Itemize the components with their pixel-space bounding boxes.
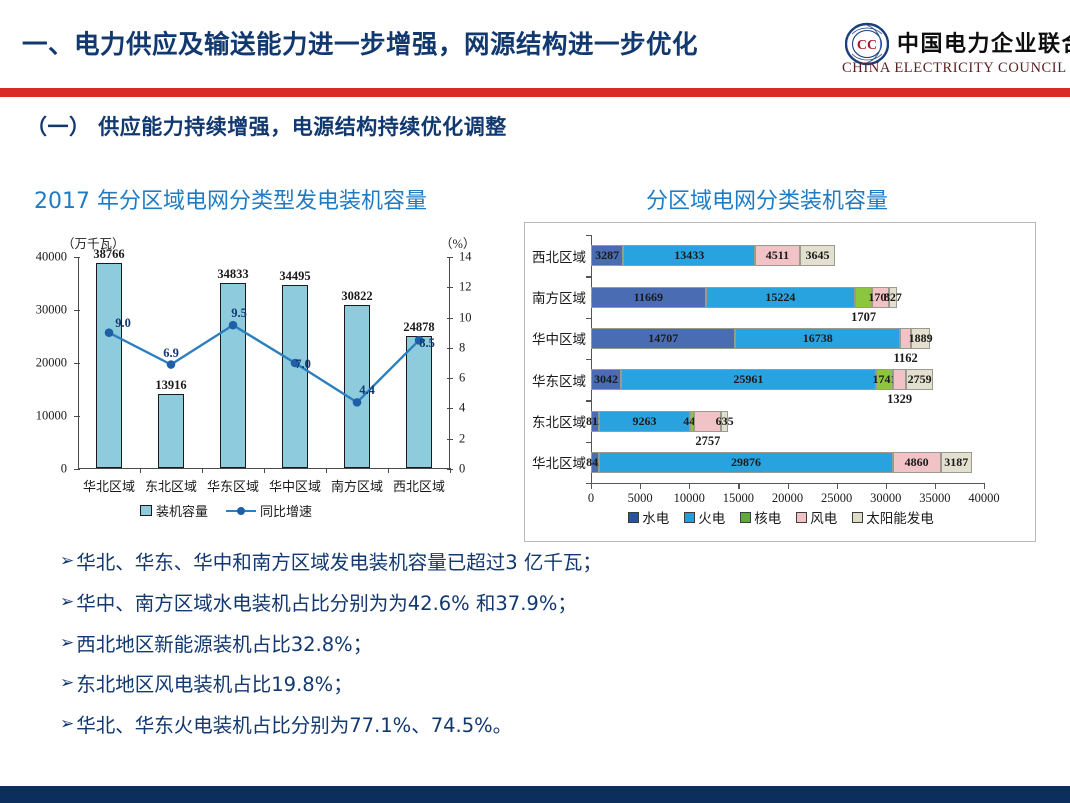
segment-value-label: 1707 (851, 310, 876, 325)
y-tick (586, 483, 592, 484)
segment-value-label: 2757 (695, 434, 720, 449)
y2-tick-label: 4 (459, 401, 465, 416)
y2-tick-label: 2 (459, 431, 465, 446)
stacked-segment: 13433 (623, 245, 755, 266)
bullet-list: ➢ 华北、华东、华中和南方区域发电装机容量已超过3 亿千瓦； ➢ 华中、南方区域… (60, 550, 1000, 754)
square-swatch-icon (852, 512, 863, 523)
y2-tick-label: 6 (459, 371, 465, 386)
stacked-segment: 9263 (599, 411, 690, 432)
y-tick-label: 0 (61, 462, 67, 477)
left-chart-legend: 装机容量 同比增速 (140, 501, 312, 520)
list-item: ➢ 华中、南方区域水电装机占比分别为为42.6% 和37.9%； (60, 591, 1000, 617)
x-tick-label: 10000 (674, 491, 705, 506)
legend-item: 风电 (796, 507, 837, 527)
bullet-text: 西北地区新能源装机占比32.8%； (76, 632, 372, 658)
legend-item-capacity: 装机容量 (140, 501, 208, 520)
x-tick (450, 468, 451, 473)
stacked-segment: 3645 (800, 245, 836, 266)
left-chart-growth-line (78, 257, 450, 469)
stacked-segment (893, 369, 906, 390)
stacked-segment: 3187 (941, 452, 972, 473)
right-chart-plot-area: 0500010000150002000025000300003500040000… (591, 235, 984, 497)
stacked-segment: 25961 (621, 369, 876, 390)
line-value-label: 6.9 (163, 346, 179, 361)
bullet-text: 华北、华东、华中和南方区域发电装机容量已超过3 亿千瓦； (76, 550, 602, 576)
square-swatch-icon (740, 512, 751, 523)
y2-tick-label: 10 (459, 310, 472, 325)
legend-label: 火电 (698, 507, 725, 527)
logo-name-cn: 中国电力企业联合会 (897, 26, 1070, 58)
x-tick (935, 483, 936, 489)
x-tick-label: 25000 (821, 491, 852, 506)
bullet-arrow-icon: ➢ (60, 713, 74, 736)
stacked-segment: 4860 (893, 452, 941, 473)
list-item: ➢ 西北地区新能源装机占比32.8%； (60, 632, 1000, 658)
legend-item: 太阳能发电 (852, 507, 934, 527)
line-value-label: 4.4 (359, 383, 375, 398)
x-tick (738, 483, 739, 489)
line-value-label: 9.5 (231, 306, 247, 321)
category-label: 华中区域 (532, 328, 586, 348)
square-swatch-icon (628, 512, 639, 523)
y2-tick-label: 8 (459, 340, 465, 355)
stacked-segment: 1889 (911, 328, 930, 349)
svg-text:CC: CC (857, 38, 877, 53)
y-tick (586, 235, 592, 236)
category-label: 西北区域 (393, 476, 445, 495)
x-tick (886, 483, 887, 489)
x-tick-label: 30000 (870, 491, 901, 506)
header-divider (0, 88, 1070, 97)
category-label: 西北区域 (532, 246, 586, 266)
bullet-text: 华中、南方区域水电装机占比分别为为42.6% 和37.9%； (76, 591, 577, 617)
x-tick (837, 483, 838, 489)
category-label: 华北区域 (532, 452, 586, 472)
category-label: 南方区域 (331, 476, 383, 495)
y2-tick-label: 0 (459, 462, 465, 477)
y-tick (586, 318, 592, 319)
legend-item: 火电 (684, 507, 725, 527)
legend-item: 核电 (740, 507, 781, 527)
stacked-segment: 16738 (735, 328, 899, 349)
y-tick-label: 20000 (36, 356, 67, 371)
bullet-arrow-icon: ➢ (60, 591, 74, 614)
x-tick (788, 483, 789, 489)
stacked-segment: 15224 (706, 287, 856, 308)
x-tick-label: 40000 (968, 491, 999, 506)
stacked-segment: 14707 (591, 328, 735, 349)
bullet-arrow-icon: ➢ (60, 550, 74, 573)
stacked-segment: 11669 (591, 287, 706, 308)
category-label: 华中区域 (269, 476, 321, 495)
category-label: 东北区域 (532, 411, 586, 431)
y-tick (586, 276, 592, 277)
legend-label: 太阳能发电 (866, 507, 934, 527)
x-tick-label: 5000 (628, 491, 653, 506)
x-tick (984, 483, 985, 489)
stacked-segment: 1741 (876, 369, 893, 390)
segment-value-label: 1329 (887, 392, 912, 407)
right-stacked-chart: 0500010000150002000025000300003500040000… (524, 222, 1036, 542)
bullet-arrow-icon: ➢ (60, 672, 74, 695)
category-label: 东北区域 (145, 476, 197, 495)
stacked-segment: 635 (721, 411, 727, 432)
y-tick (586, 359, 592, 360)
line-value-label: 9.0 (115, 316, 131, 331)
x-tick-label: 15000 (723, 491, 754, 506)
y-tick-label: 10000 (36, 409, 67, 424)
y-tick (586, 400, 592, 401)
line-marker-icon (226, 505, 256, 516)
category-label: 华北区域 (83, 476, 135, 495)
stacked-segment: 3287 (591, 245, 623, 266)
left-chart-title: 2017 年分区域电网分类型发电装机容量 (34, 183, 427, 215)
legend-label: 核电 (754, 507, 781, 527)
x-tick-label: 20000 (772, 491, 803, 506)
legend-item-growth: 同比增速 (226, 501, 312, 520)
left-combo-chart: （万千瓦） （%） 010000200003000040000 02468101… (30, 233, 510, 528)
stacked-segment: 842 (591, 452, 599, 473)
right-chart-legend: 水电火电核电风电太阳能发电 (525, 507, 1037, 527)
y-tick (586, 442, 592, 443)
y-tick (74, 469, 80, 470)
stacked-segment: 29876 (599, 452, 893, 473)
category-label: 南方区域 (532, 287, 586, 307)
left-chart-plot-area: 010000200003000040000 02468101214 387661… (78, 257, 450, 469)
category-label: 华东区域 (207, 476, 259, 495)
legend-item: 水电 (628, 507, 669, 527)
stacked-segment: 812 (591, 411, 599, 432)
stacked-segment: 4511 (755, 245, 799, 266)
square-swatch-icon (796, 512, 807, 523)
organization-logo: CC 中国电力企业联合会 CHINA ELECTRICITY COUNCIL (845, 20, 1060, 82)
stacked-segment: 3042 (591, 369, 621, 390)
stacked-segment: 2759 (906, 369, 933, 390)
line-value-label: 7.0 (295, 357, 311, 372)
x-tick-label: 35000 (919, 491, 950, 506)
segment-value-label: 1162 (893, 351, 917, 366)
legend-label-capacity: 装机容量 (156, 501, 208, 520)
square-swatch-icon (140, 505, 152, 516)
category-label: 华东区域 (532, 370, 586, 390)
y2-tick-label: 12 (459, 280, 472, 295)
list-item: ➢ 华北、华东火电装机占比分别为77.1%、74.5%。 (60, 713, 1000, 739)
right-chart-title: 分区域电网分类装机容量 (646, 183, 888, 215)
square-swatch-icon (684, 512, 695, 523)
x-tick (689, 483, 690, 489)
y-tick-label: 30000 (36, 303, 67, 318)
section-subheading: （一） 供应能力持续增强，电源结构持续优化调整 (26, 111, 507, 141)
list-item: ➢ 华北、华东、华中和南方区域发电装机容量已超过3 亿千瓦； (60, 550, 1000, 576)
list-item: ➢ 东北地区风电装机占比19.8%； (60, 672, 1000, 698)
y-tick-label: 40000 (36, 250, 67, 265)
bullet-text: 华北、华东火电装机占比分别为77.1%、74.5%。 (76, 713, 512, 739)
stacked-segment: 827 (889, 287, 897, 308)
legend-label: 水电 (642, 507, 669, 527)
bullet-arrow-icon: ➢ (60, 632, 74, 655)
y2-tick-label: 14 (459, 250, 472, 265)
legend-label-growth: 同比增速 (260, 501, 312, 520)
x-tick-label: 0 (588, 491, 594, 506)
page-title: 一、电力供应及输送能力进一步增强，网源结构进一步优化 (22, 24, 698, 61)
line-value-label: 8.5 (419, 336, 435, 351)
slide-header: 一、电力供应及输送能力进一步增强，网源结构进一步优化 CC 中国电力企业联合会 … (0, 0, 1070, 88)
bullet-text: 东北地区风电装机占比19.8%； (76, 672, 352, 698)
x-tick (640, 483, 641, 489)
logo-name-en: CHINA ELECTRICITY COUNCIL (842, 60, 1067, 77)
footer-bar (0, 786, 1070, 803)
legend-label: 风电 (810, 507, 837, 527)
